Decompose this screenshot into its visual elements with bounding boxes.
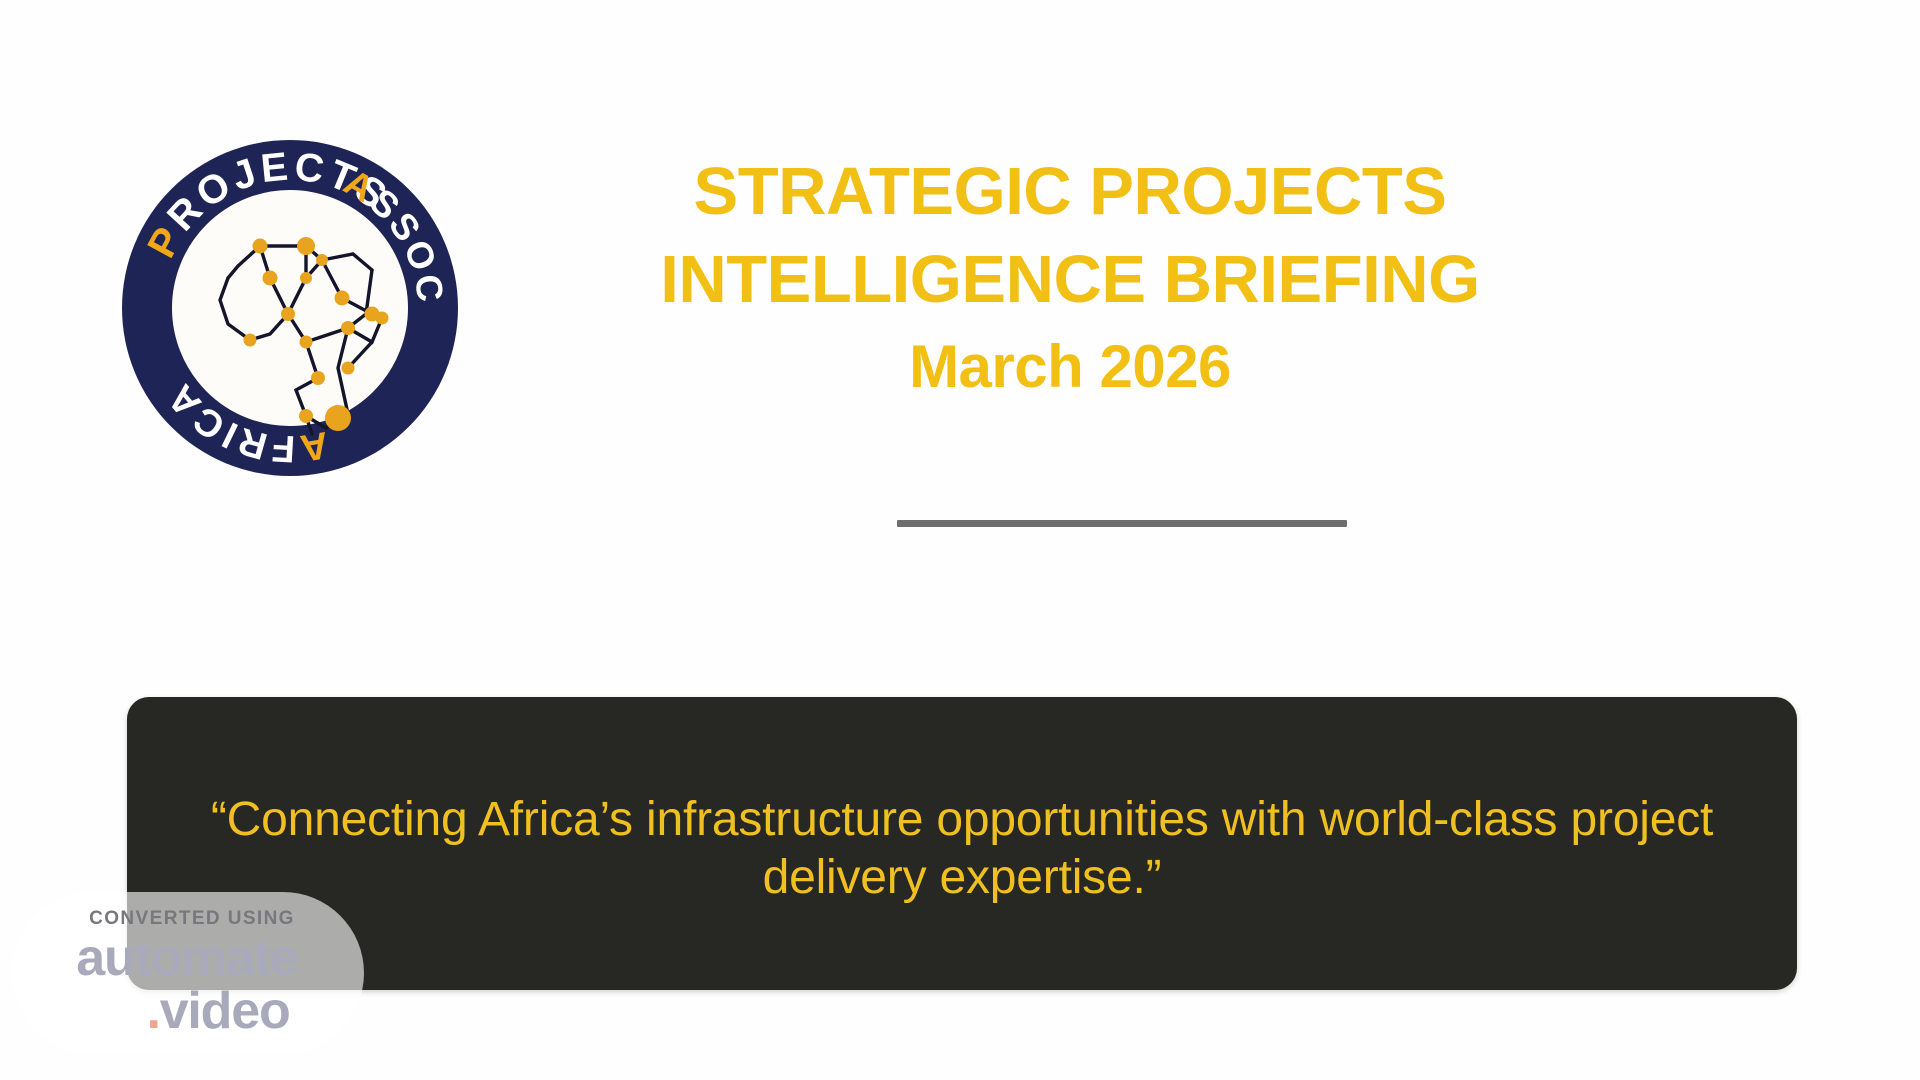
title-line-2: INTELLIGENCE BRIEFING	[620, 236, 1520, 324]
watermark-video-suffix: video	[160, 982, 290, 1040]
presentation-slide: PROJECTS ASSOCIATION AFRICA	[0, 0, 1920, 1080]
horizontal-divider	[897, 520, 1347, 527]
title-subtitle: March 2026	[620, 326, 1520, 408]
title-line-1: STRATEGIC PROJECTS	[620, 148, 1520, 236]
logo-svg: PROJECTS ASSOCIATION AFRICA	[110, 128, 470, 488]
automate-video-watermark: CONVERTED USING automate .video	[12, 892, 364, 1054]
africa-projects-association-logo: PROJECTS ASSOCIATION AFRICA	[110, 128, 470, 488]
watermark-brand-automate: automate	[76, 932, 298, 984]
watermark-converted-using-label: CONVERTED USING	[89, 908, 295, 930]
quote-text: “Connecting Africa’s infrastructure oppo…	[182, 781, 1742, 907]
quote-box: “Connecting Africa’s infrastructure oppo…	[127, 697, 1797, 990]
watermark-dot: .	[146, 982, 159, 1040]
watermark-brand-video: .video	[146, 984, 289, 1038]
title-block: STRATEGIC PROJECTS INTELLIGENCE BRIEFING…	[620, 148, 1520, 408]
